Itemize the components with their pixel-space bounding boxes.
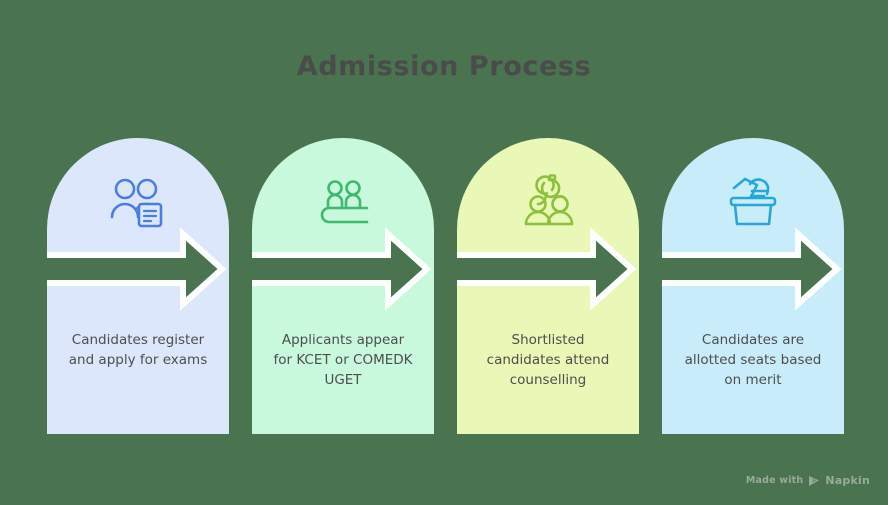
watermark-brand: Napkin [825,474,870,487]
process-step-1[interactable]: Candidates register and apply for exams [47,138,229,434]
watermark[interactable]: Made with Napkin [746,474,870,487]
students-at-desk-icon [315,179,371,225]
step-2-caption: Applicants appear for KCET or COMEDK UGE… [258,330,428,390]
people-with-document-icon [109,176,167,228]
process-steps-row: Candidates register and apply for exams [0,0,888,505]
infographic-canvas: Admission Process [0,0,888,505]
process-step-4[interactable]: Candidates are allotted seats based on m… [662,138,844,434]
process-step-2[interactable]: Applicants appear for KCET or COMEDK UGE… [252,138,434,434]
napkin-play-logo-icon [808,475,820,487]
step-4-icon-wrap [662,166,844,238]
step-1-icon-wrap [47,166,229,238]
step-3-icon-wrap [457,166,639,238]
step-2-icon-wrap [252,166,434,238]
step-4-caption: Candidates are allotted seats based on m… [668,330,838,390]
watermark-made-with-label: Made with [746,475,804,486]
step-3-caption: Shortlisted candidates attend counsellin… [463,330,633,390]
hand-ballot-box-icon [724,174,782,230]
counselling-chat-people-icon [520,174,576,230]
process-step-3[interactable]: Shortlisted candidates attend counsellin… [457,138,639,434]
step-1-caption: Candidates register and apply for exams [53,330,223,370]
